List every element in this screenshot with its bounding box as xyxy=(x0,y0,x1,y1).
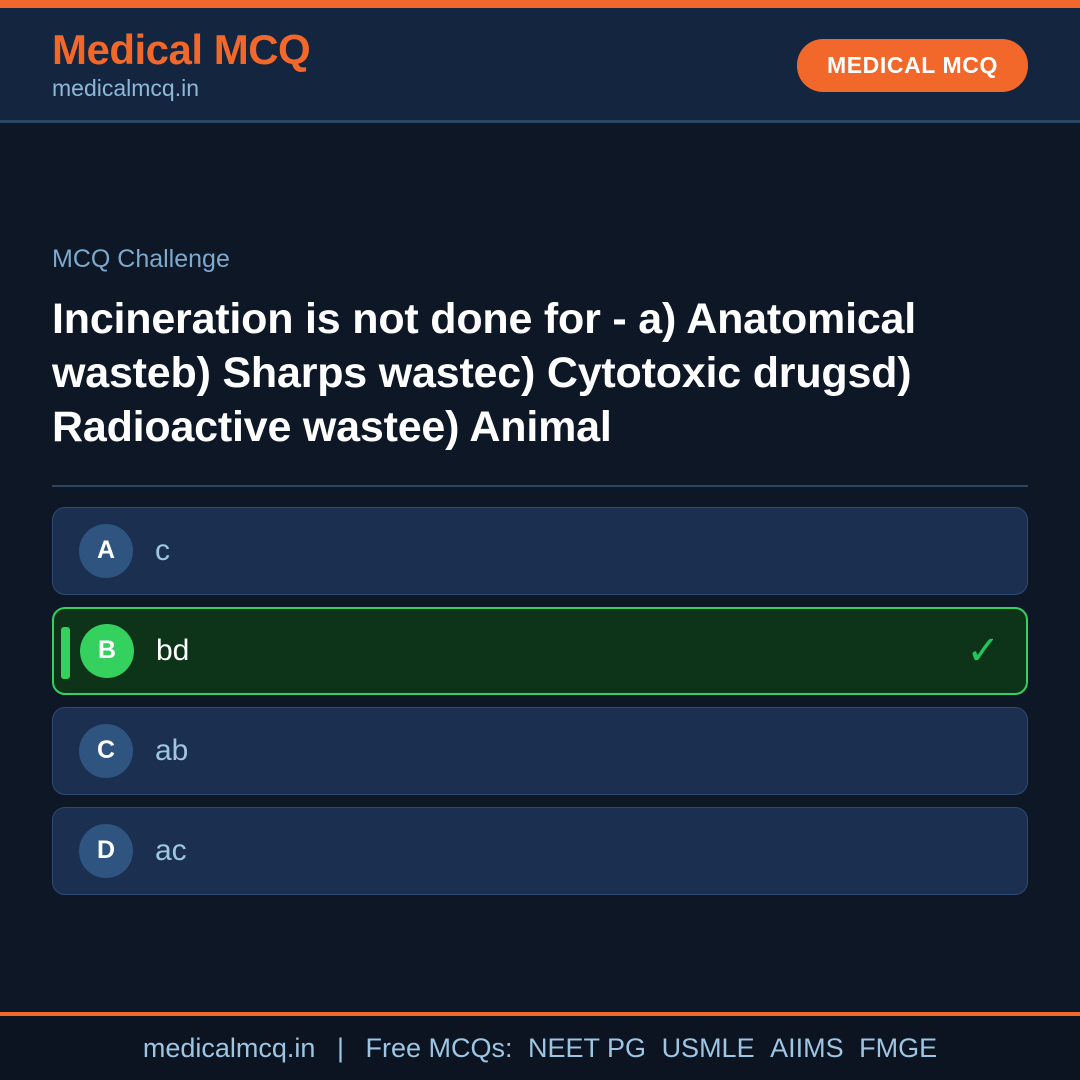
option-b[interactable]: Bbd✓ xyxy=(52,607,1028,695)
option-text: bd xyxy=(156,634,189,668)
eyebrow-label: MCQ Challenge xyxy=(52,245,1028,274)
top-accent-rule xyxy=(0,0,1080,8)
question-divider xyxy=(52,485,1028,487)
question-text: Incineration is not done for - a) Anatom… xyxy=(52,292,982,455)
page-header: Medical MCQ medicalmcq.in MEDICAL MCQ xyxy=(0,8,1080,123)
page-footer: medicalmcq.in | Free MCQs: NEET PG USMLE… xyxy=(0,1012,1080,1080)
option-letter-badge: D xyxy=(79,824,133,878)
option-text: c xyxy=(155,534,170,568)
options-list: AcBbd✓CabDac xyxy=(52,507,1028,895)
footer-exam-usmle: USMLE xyxy=(654,1033,755,1063)
footer-label: Free MCQs: xyxy=(365,1033,512,1063)
footer-site: medicalmcq.in xyxy=(143,1033,316,1063)
option-letter-badge: A xyxy=(79,524,133,578)
option-letter-badge: C xyxy=(79,724,133,778)
option-text: ac xyxy=(155,834,187,868)
option-letter-badge: B xyxy=(80,624,134,678)
footer-exam-fmge: FMGE xyxy=(851,1033,937,1063)
footer-exam-aiims: AIIMS xyxy=(762,1033,844,1063)
option-a[interactable]: Ac xyxy=(52,507,1028,595)
mcq-card-page: Medical MCQ medicalmcq.in MEDICAL MCQ MC… xyxy=(0,0,1080,1080)
correct-check-icon: ✓ xyxy=(966,631,1000,671)
brand-badge: MEDICAL MCQ xyxy=(797,39,1028,92)
footer-text: medicalmcq.in | Free MCQs: NEET PG USMLE… xyxy=(143,1033,937,1064)
correct-accent-bar xyxy=(61,627,70,679)
brand-block: Medical MCQ medicalmcq.in xyxy=(52,28,310,104)
footer-exam-neet-pg: NEET PG xyxy=(520,1033,646,1063)
option-d[interactable]: Dac xyxy=(52,807,1028,895)
option-text: ab xyxy=(155,734,188,768)
option-c[interactable]: Cab xyxy=(52,707,1028,795)
brand-subtitle: medicalmcq.in xyxy=(52,74,310,104)
brand-title: Medical MCQ xyxy=(52,28,310,72)
footer-separator: | xyxy=(323,1033,358,1063)
question-body: MCQ Challenge Incineration is not done f… xyxy=(0,123,1080,1012)
